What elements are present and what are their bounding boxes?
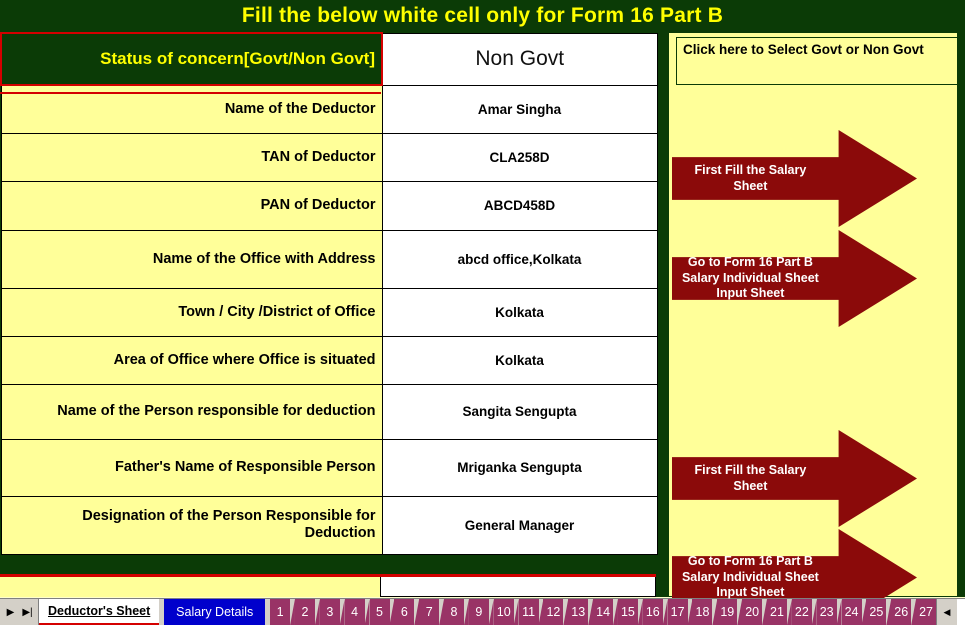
row-label-area-of-office: Area of Office where Office is situated [1, 336, 382, 384]
sheet-tab-27[interactable]: 27 [916, 599, 936, 625]
sheet-tab-3[interactable]: 3 [320, 599, 340, 625]
sheet-tab-label: 19 [720, 605, 734, 619]
row-label-tan-of-deductor: TAN of Deductor [1, 133, 382, 181]
table-row: Town / City /District of Office Kolkata [1, 288, 657, 336]
table-row: Designation of the Person Responsible fo… [1, 496, 657, 554]
row-value-tan-of-deductor[interactable]: CLA258D [382, 133, 657, 181]
table-row-status: Status of concern[Govt/Non Govt] Non Gov… [1, 33, 657, 85]
sheet-tab-label: 22 [795, 605, 809, 619]
row-label-office-name-address: Name of the Office with Address [1, 230, 382, 288]
sheet-tab-label: 8 [451, 605, 458, 619]
row-value-designation[interactable]: General Manager [382, 496, 657, 554]
sheet-tab-label: 17 [671, 605, 685, 619]
arrow-button-fill-salary-sheet-1[interactable]: First Fill the Salary Sheet [672, 130, 917, 227]
sheet-tab-1[interactable]: 1 [270, 599, 290, 625]
sheet-tab-14[interactable]: 14 [593, 599, 613, 625]
table-body: Status of concern[Govt/Non Govt] Non Gov… [1, 33, 657, 554]
sheet-tab-label: Salary Details [176, 605, 253, 619]
empty-cell-middle [381, 577, 656, 597]
table-row: PAN of Deductor ABCD458D [1, 181, 657, 230]
spreadsheet-window: Fill the below white cell only for Form … [0, 0, 965, 625]
sheet-tab-bar: ▶ ▶| Deductor's SheetSalary Details12345… [0, 598, 965, 625]
sheet-tab-10[interactable]: 10 [494, 599, 514, 625]
sheet-tab-label: 18 [696, 605, 710, 619]
tab-nav-buttons: ▶ ▶| [0, 599, 39, 625]
sheet-tab-5[interactable]: 5 [370, 599, 390, 625]
sheet-tab-label: 15 [621, 605, 635, 619]
sheet-tab-2[interactable]: 2 [295, 599, 315, 625]
row-value-responsible-person-name[interactable]: Sangita Sengupta [382, 384, 657, 439]
arrow-label: Go to Form 16 Part B Salary Individual S… [672, 554, 829, 601]
table-row: Area of Office where Office is situated … [1, 336, 657, 384]
empty-cell-left [0, 577, 381, 597]
sheet-tab-24[interactable]: 24 [842, 599, 862, 625]
row-label-father-name: Father's Name of Responsible Person [1, 439, 382, 496]
row-value-name-of-deductor[interactable]: Amar Singha [382, 85, 657, 133]
row-label-town-city-district: Town / City /District of Office [1, 288, 382, 336]
divider-red-top [0, 92, 381, 94]
sheet-tab-label: 21 [770, 605, 784, 619]
table-row: Name of the Office with Address abcd off… [1, 230, 657, 288]
next-sheet-icon[interactable]: ▶ [2, 603, 19, 621]
sheet-tab-label: 16 [646, 605, 660, 619]
arrow-label: First Fill the Salary Sheet [672, 163, 829, 194]
sheet-tab-11[interactable]: 11 [519, 599, 539, 625]
sheet-tab-15[interactable]: 15 [618, 599, 638, 625]
sheet-tab-label: 25 [869, 605, 883, 619]
arrow-label: First Fill the Salary Sheet [672, 463, 829, 494]
row-label-designation: Designation of the Person Responsible fo… [1, 496, 382, 554]
sheet-tab-21[interactable]: 21 [767, 599, 787, 625]
sheet-tab-25[interactable]: 25 [866, 599, 886, 625]
row-value-area-of-office[interactable]: Kolkata [382, 336, 657, 384]
row-value-father-name[interactable]: Mriganka Sengupta [382, 439, 657, 496]
page-title: Fill the below white cell only for Form … [0, 0, 965, 32]
row-label-responsible-person-name: Name of the Person responsible for deduc… [1, 384, 382, 439]
arrow-button-goto-form16-partb-1[interactable]: Go to Form 16 Part B Salary Individual S… [672, 230, 917, 327]
arrow-button-fill-salary-sheet-2[interactable]: First Fill the Salary Sheet [672, 430, 917, 527]
sheet-tab-label: 5 [376, 605, 383, 619]
table-row: Name of the Person responsible for deduc… [1, 384, 657, 439]
horizontal-scrollbar[interactable] [957, 599, 965, 625]
deductor-details-table: Status of concern[Govt/Non Govt] Non Gov… [0, 32, 658, 555]
sheet-tab-label: 26 [894, 605, 908, 619]
status-label: Status of concern[Govt/Non Govt] [1, 33, 382, 85]
arrow-label: Go to Form 16 Part B Salary Individual S… [672, 255, 829, 302]
sheet-tab-label: 20 [745, 605, 759, 619]
sheet-tab-label: 23 [820, 605, 834, 619]
sheet-tab-6[interactable]: 6 [394, 599, 414, 625]
sheet-tab-label: 10 [497, 605, 511, 619]
sheet-tab-label: 27 [919, 605, 933, 619]
tabbar-scroll-left-icon[interactable]: ◀ [936, 599, 957, 625]
sheet-tab-label: 4 [351, 605, 358, 619]
sheet-tab-4[interactable]: 4 [345, 599, 365, 625]
sheet-tab-12[interactable]: 12 [543, 599, 563, 625]
row-value-pan-of-deductor[interactable]: ABCD458D [382, 181, 657, 230]
sheet-tab-label: 9 [475, 605, 482, 619]
row-value-town-city-district[interactable]: Kolkata [382, 288, 657, 336]
sheet-tab-20[interactable]: 20 [742, 599, 762, 625]
sheet-tab-label: 24 [845, 605, 859, 619]
sheet-tab-17[interactable]: 17 [668, 599, 688, 625]
sheet-tab-26[interactable]: 26 [891, 599, 911, 625]
sheet-tab-label: 6 [401, 605, 408, 619]
sheet-tab-label: 2 [301, 605, 308, 619]
sheet-tab-7[interactable]: 7 [419, 599, 439, 625]
table-row: Father's Name of Responsible Person Mrig… [1, 439, 657, 496]
sheet-body: Status of concern[Govt/Non Govt] Non Gov… [0, 32, 965, 597]
sheet-tab-22[interactable]: 22 [792, 599, 812, 625]
last-sheet-icon[interactable]: ▶| [19, 603, 36, 621]
sheet-tab-label: 13 [571, 605, 585, 619]
status-value-dropdown[interactable]: Non Govt [382, 33, 657, 85]
sheet-tabs: Deductor's SheetSalary Details1234567891… [39, 599, 936, 625]
sheet-tab-label: 3 [326, 605, 333, 619]
row-label-pan-of-deductor: PAN of Deductor [1, 181, 382, 230]
row-value-office-name-address[interactable]: abcd office,Kolkata [382, 230, 657, 288]
sheet-tab-23[interactable]: 23 [817, 599, 837, 625]
sheet-tab-salary-details[interactable]: Salary Details [164, 599, 265, 625]
sheet-tab-8[interactable]: 8 [444, 599, 464, 625]
sheet-tab-18[interactable]: 18 [692, 599, 712, 625]
sheet-tab-9[interactable]: 9 [469, 599, 489, 625]
sheet-tab-label: 14 [596, 605, 610, 619]
sheet-tab-label: 12 [546, 605, 560, 619]
table-row: TAN of Deductor CLA258D [1, 133, 657, 181]
sheet-tab-19[interactable]: 19 [717, 599, 737, 625]
sheet-tab-13[interactable]: 13 [568, 599, 588, 625]
select-govt-note[interactable]: Click here to Select Govt or Non Govt [676, 37, 958, 85]
sheet-tab-label: 7 [426, 605, 433, 619]
sheet-tab-16[interactable]: 16 [643, 599, 663, 625]
sheet-tab-label: 11 [522, 605, 535, 619]
sheet-tab-deductor-s-sheet[interactable]: Deductor's Sheet [39, 599, 159, 625]
sheet-tab-label: Deductor's Sheet [48, 604, 150, 618]
sheet-tab-label: 1 [277, 605, 284, 619]
